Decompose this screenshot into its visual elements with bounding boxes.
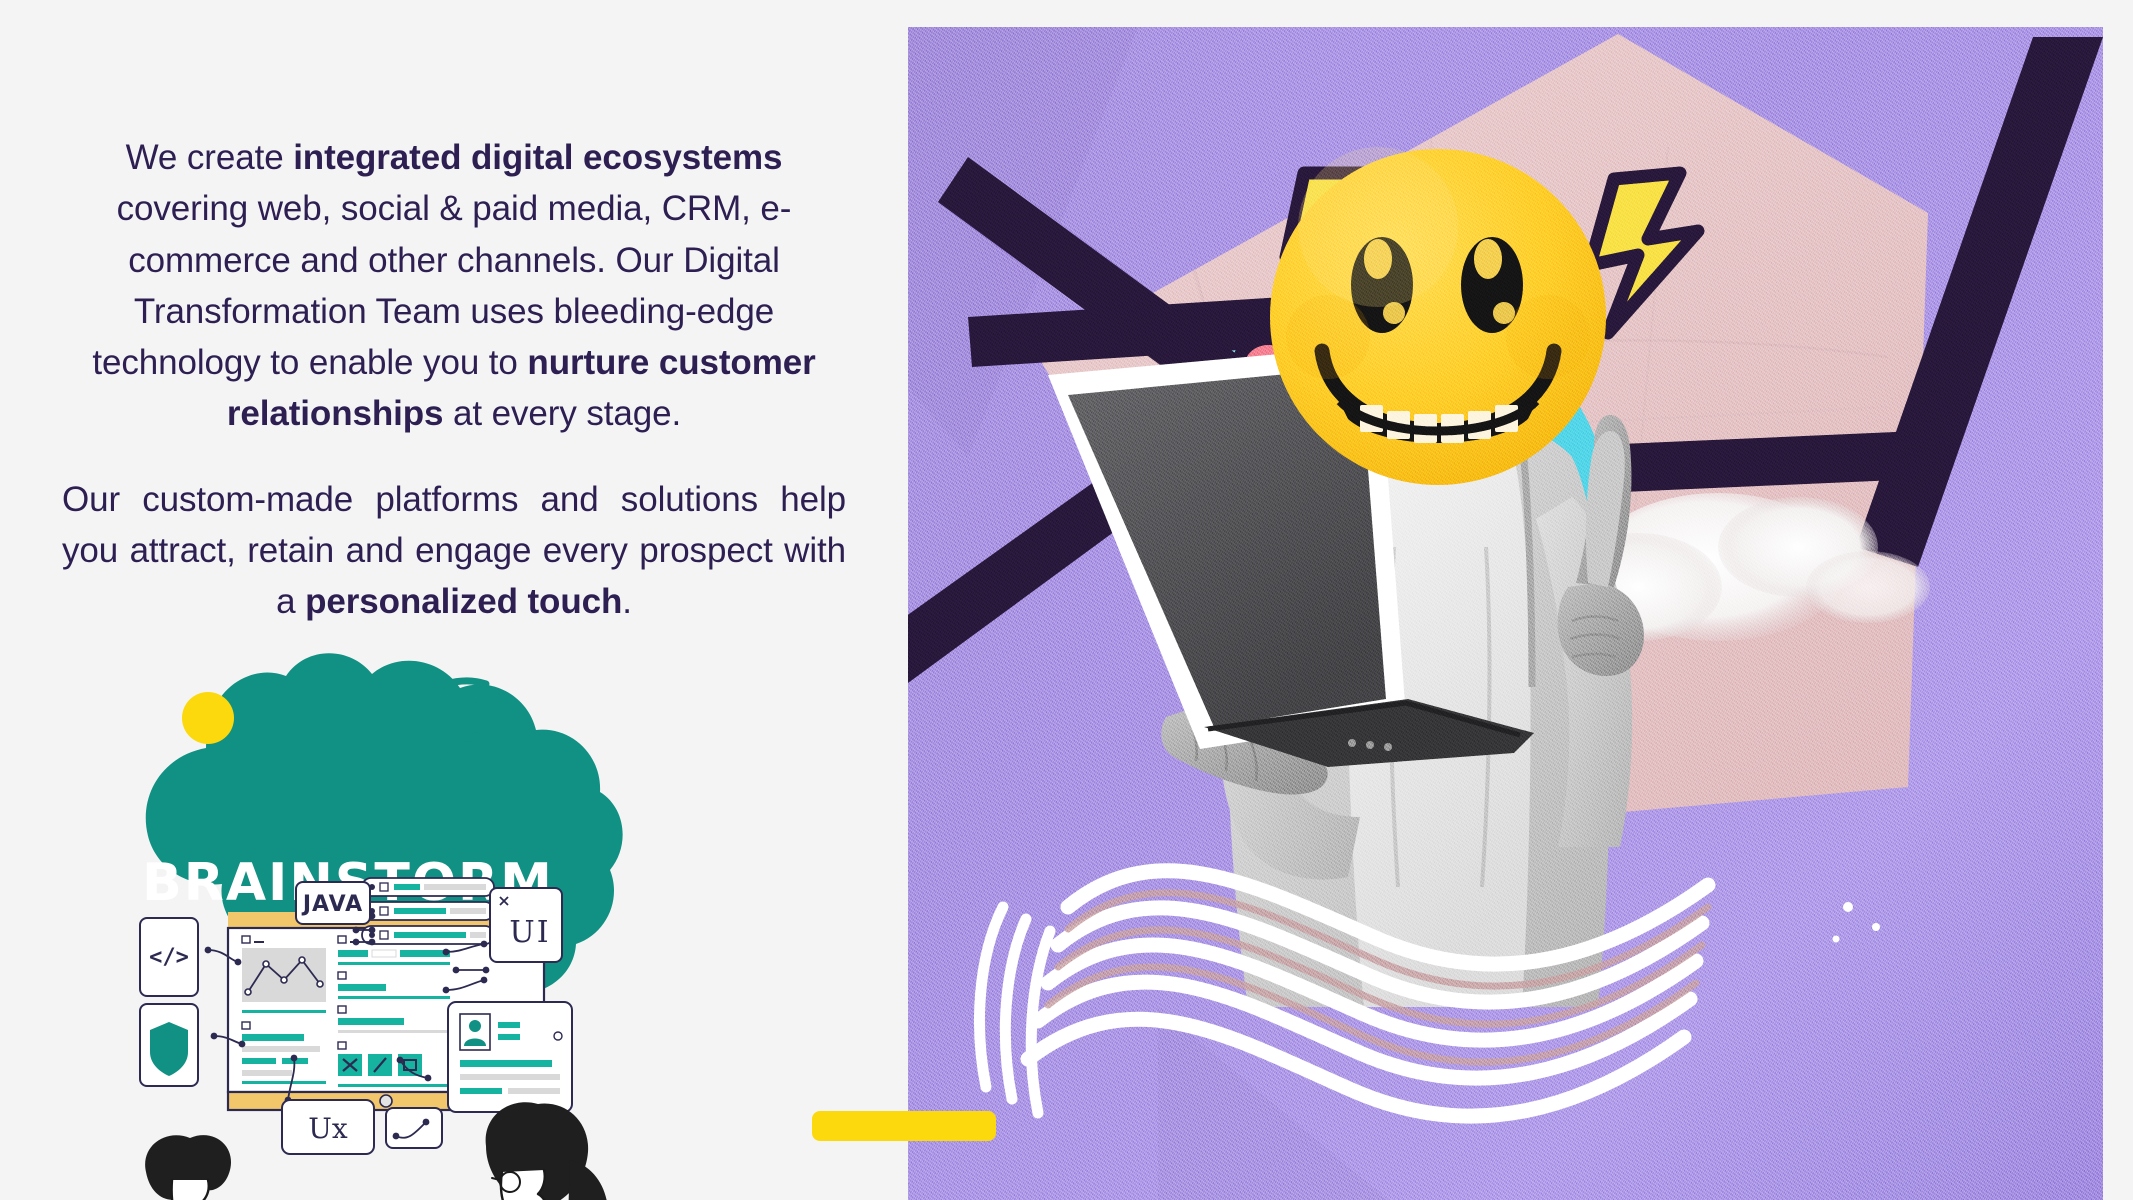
people-group [110,1102,655,1200]
yellow-accent-bar [812,1111,996,1141]
tag-card-ui: UI [490,888,562,962]
profile-card [448,1002,572,1112]
copy-block: We create integrated digital ecosystems … [62,132,846,627]
collage-artwork [908,27,2103,1200]
yellow-accent-dot [182,692,234,744]
tag-card-java: JAVA [296,882,370,924]
brainstorm-illustration: BRAINSTORM [110,560,670,1200]
smiley-face-head [1270,147,1606,485]
paragraph-one: We create integrated digital ecosystems … [62,132,846,440]
tag-ui-label: UI [509,915,550,950]
tag-card-code: </> [140,918,198,996]
p1-seg-1-bold: integrated digital ecosystems [293,138,782,177]
p1-seg-0: We create [126,138,294,177]
tag-card-ux: Ux [282,1100,374,1154]
tag-card-shield [140,1004,198,1086]
tag-card-curve [386,1108,442,1148]
tag-java-label: JAVA [301,892,363,917]
p1-seg-4: at every stage. [443,394,681,433]
left-content-column: We create integrated digital ecosystems … [0,0,908,1200]
tag-code-label: </> [149,945,189,970]
floating-list-rows [362,878,494,944]
tag-ux-label: Ux [308,1112,348,1145]
